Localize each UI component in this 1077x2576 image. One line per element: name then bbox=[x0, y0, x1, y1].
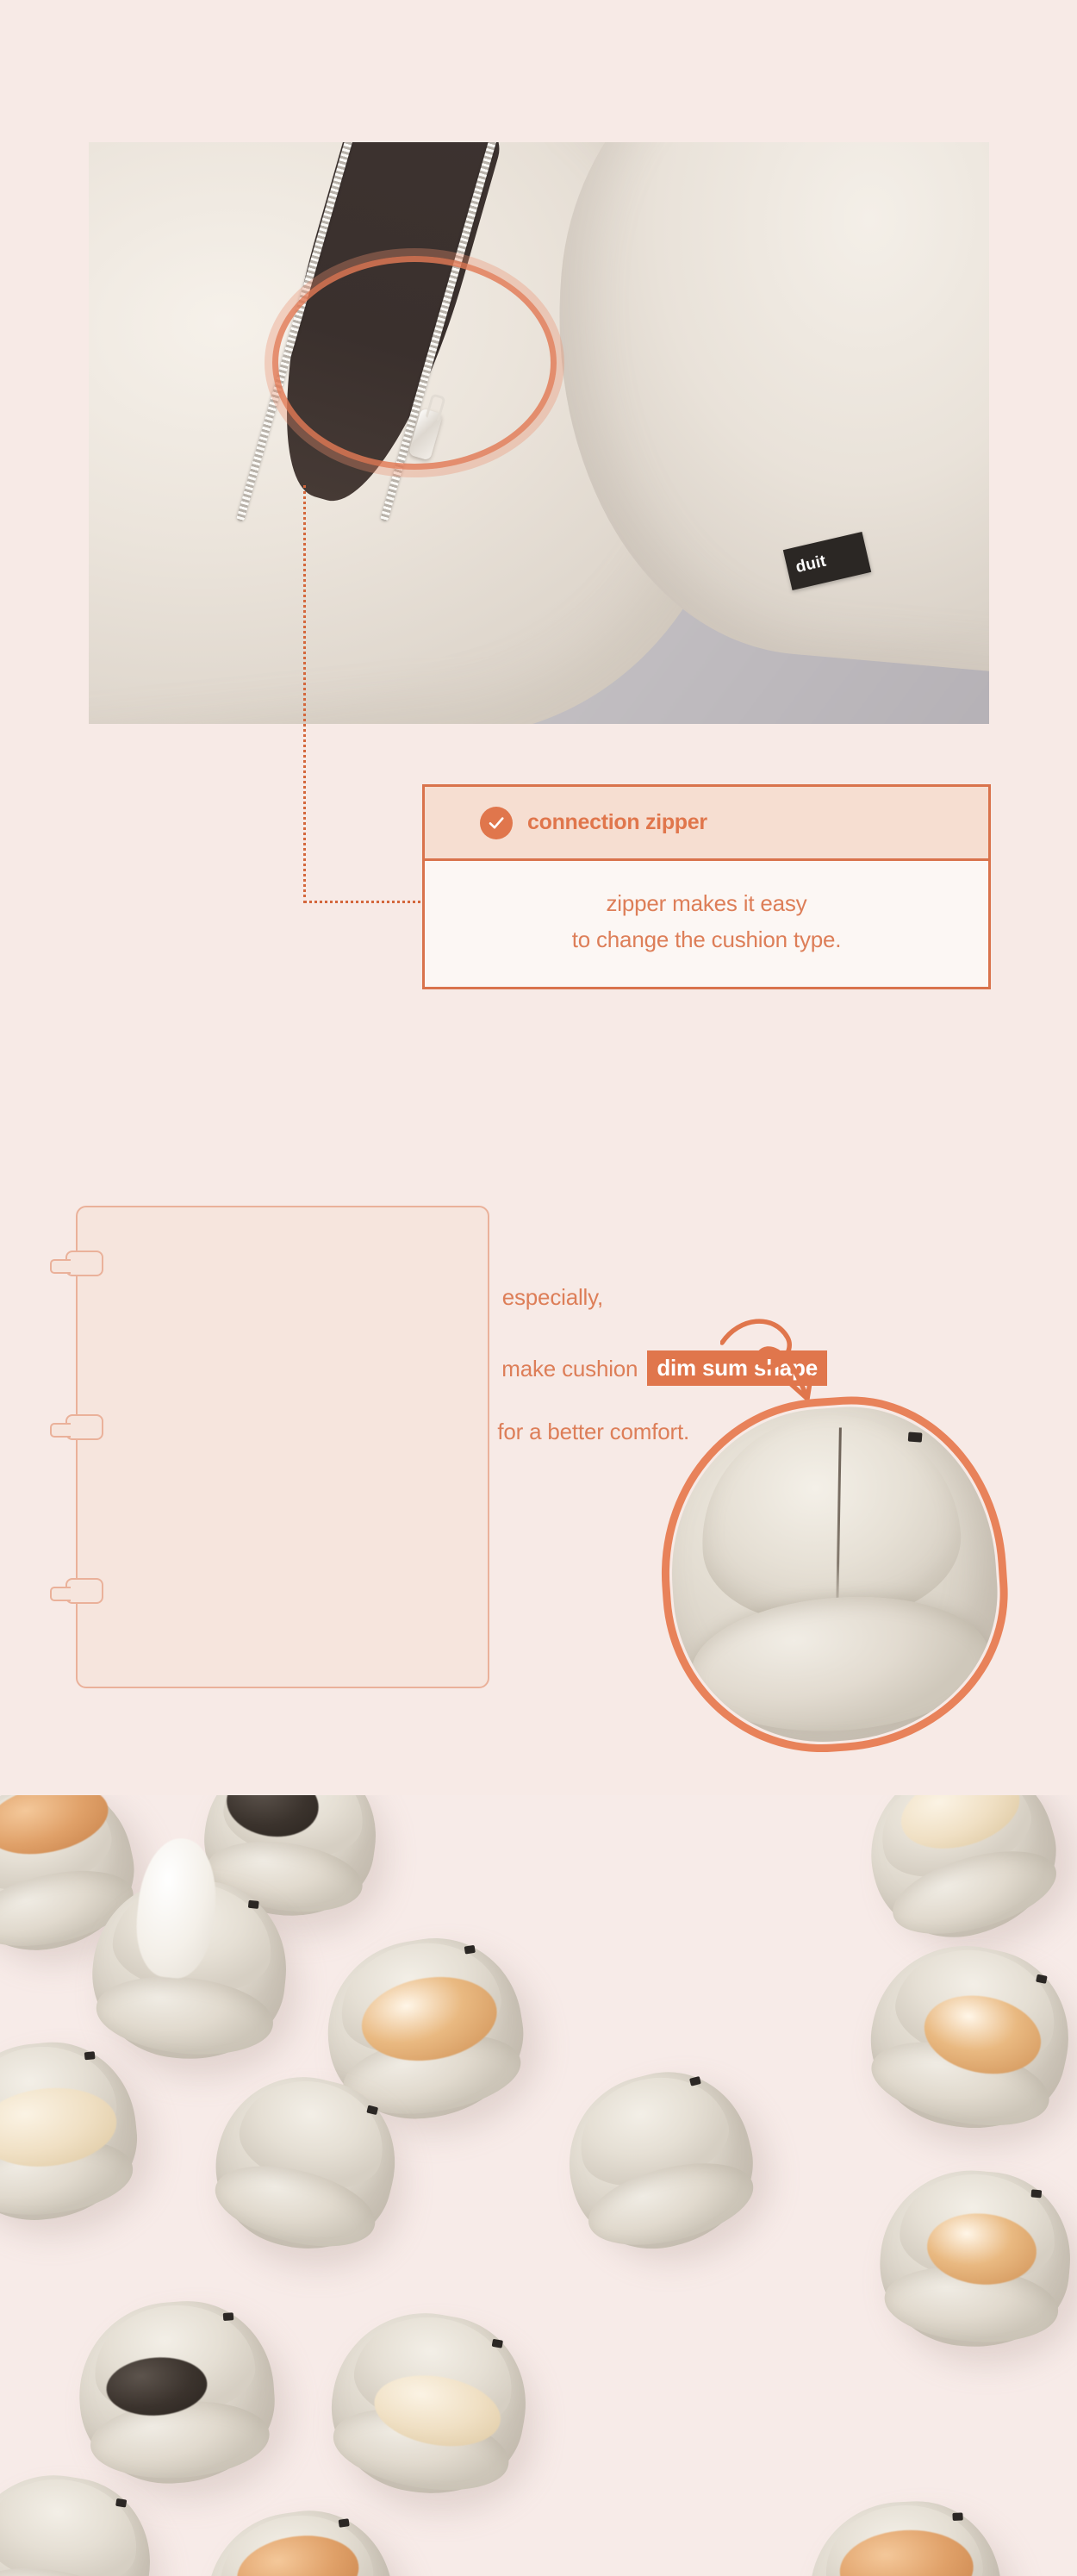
product-detail-page: duit connection zipper zipper makes it e… bbox=[0, 0, 1077, 2576]
bed-tag bbox=[491, 2338, 502, 2348]
montage-bed bbox=[0, 2462, 162, 2576]
bed-backrest bbox=[0, 2468, 146, 2576]
bed-tag bbox=[339, 2518, 350, 2528]
cushion-brand-tag bbox=[908, 1431, 923, 1442]
montage-bed bbox=[551, 2055, 769, 2266]
callout-header: connection zipper bbox=[425, 787, 988, 861]
montage-bed bbox=[806, 2497, 1005, 2576]
notebook-ring-icon bbox=[65, 1578, 103, 1604]
montage-bed bbox=[850, 1795, 1074, 1957]
cushion-bolster bbox=[687, 1587, 993, 1741]
pet-bed-montage: pet bed lifestyle montage bbox=[0, 1795, 1077, 2576]
notebook-ring-icon bbox=[65, 1251, 103, 1276]
dimsum-line-3: for a better comfort. bbox=[0, 1420, 689, 1443]
zipper-callout-card: connection zipper zipper makes it easy t… bbox=[422, 784, 991, 989]
montage-bed bbox=[0, 2034, 145, 2229]
bed-tag bbox=[952, 2513, 962, 2522]
dimsum-line-2-prefix: make cushion bbox=[501, 1357, 638, 1380]
notebook-panel bbox=[76, 1206, 489, 1688]
bed-tag bbox=[248, 1899, 259, 1908]
bed-tag bbox=[464, 1945, 476, 1955]
callout-title: connection zipper bbox=[527, 810, 707, 835]
dimsum-cushion-body bbox=[661, 1397, 1007, 1751]
bed-tag bbox=[689, 2076, 701, 2086]
bed-tag bbox=[84, 2051, 95, 2060]
montage-bed bbox=[874, 2163, 1077, 2355]
bed-tag bbox=[223, 2312, 234, 2321]
callout-body-line-2: to change the cushion type. bbox=[425, 921, 988, 957]
connector-line-vertical bbox=[303, 485, 306, 903]
check-circle-icon bbox=[480, 807, 513, 839]
dimsum-cushion-photo bbox=[662, 1398, 1006, 1751]
brand-tag-label: duit bbox=[794, 552, 828, 577]
bed-tag bbox=[116, 2498, 128, 2508]
callout-body: zipper makes it easy to change the cushi… bbox=[425, 861, 988, 987]
dimsum-line-2: make cushion dim sum shape bbox=[0, 1350, 827, 1386]
zipper-photo: duit bbox=[89, 142, 989, 724]
connector-line-horizontal bbox=[303, 901, 427, 903]
montage-bed bbox=[856, 1929, 1077, 2147]
cushion-backrest bbox=[694, 1407, 967, 1631]
bed-tag bbox=[1031, 2190, 1043, 2199]
montage-bed bbox=[319, 2298, 540, 2509]
dimsum-line-1: especially, bbox=[0, 1286, 603, 1308]
montage-bed bbox=[73, 2295, 280, 2489]
notebook-panel-frame bbox=[76, 1206, 489, 1688]
callout-body-line-1: zipper makes it easy bbox=[425, 885, 988, 921]
montage-bed bbox=[196, 2500, 404, 2576]
